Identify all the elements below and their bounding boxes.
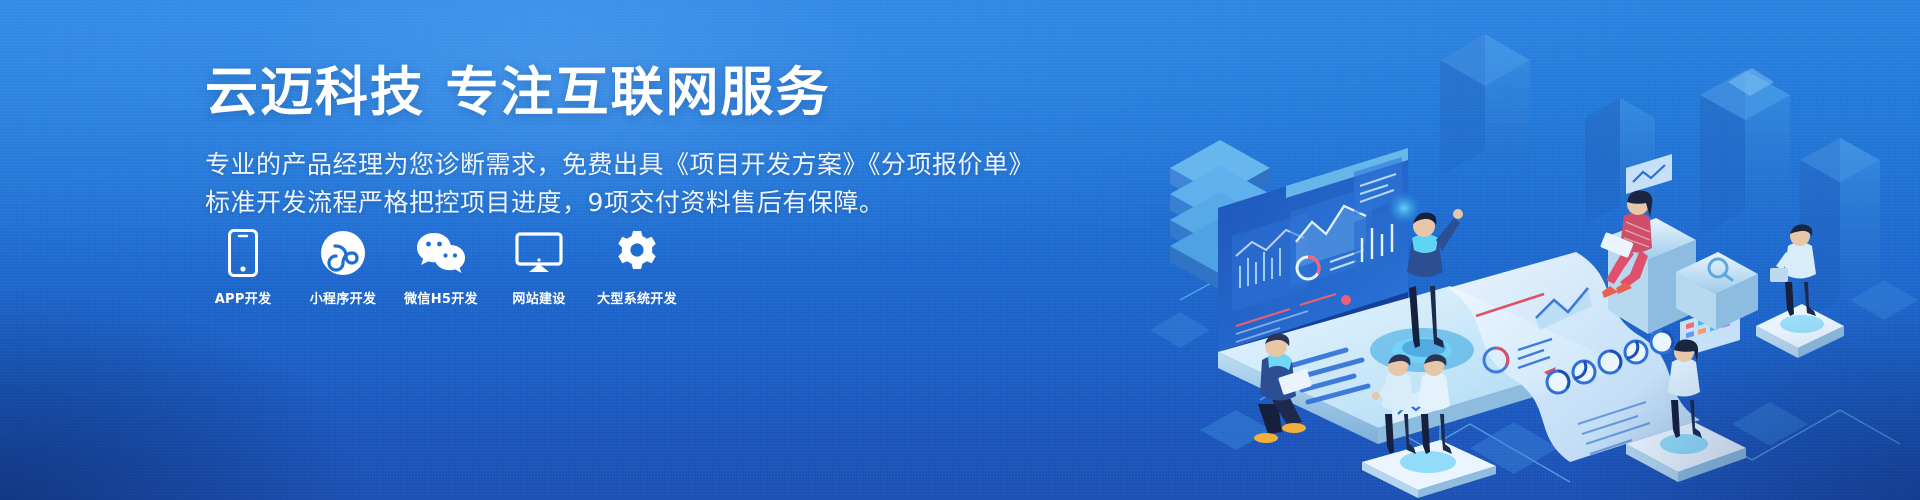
dashboard-screen <box>1218 148 1420 360</box>
gear-icon <box>614 228 660 278</box>
service-label: 大型系统开发 <box>597 292 677 308</box>
monitor-icon <box>515 228 563 278</box>
hero-copy: 云迈科技 专注互联网服务 专业的产品经理为您诊断需求，免费出具《项目开发方案》《… <box>205 62 1105 222</box>
subtitle-line-1: 专业的产品经理为您诊断需求，免费出具《项目开发方案》《分项报价单》 <box>205 146 1105 184</box>
service-label: APP开发 <box>215 292 272 308</box>
hero-banner: 云迈科技 专注互联网服务 专业的产品经理为您诊断需求，免费出具《项目开发方案》《… <box>0 0 1920 500</box>
tablet-platform <box>1218 286 1610 444</box>
metric-chips <box>1547 331 1673 393</box>
service-label: 小程序开发 <box>310 292 377 308</box>
mini-program-icon <box>320 228 366 278</box>
walking-person-with-briefcase <box>1756 224 1844 358</box>
subtitle-line-2: 标准开发流程严格把控项目进度，9项交付资料售后有保障。 <box>205 184 1105 222</box>
mobile-phone-icon <box>228 228 258 278</box>
woman-on-podium <box>1600 154 1696 334</box>
service-item-large-system[interactable]: 大型系统开发 <box>599 228 675 308</box>
service-list: APP开发 小程序开发 微信 <box>205 228 675 308</box>
magnifier-icon <box>1709 259 1732 280</box>
corner-vignette-left <box>0 290 430 500</box>
hero-illustration <box>1140 0 1920 500</box>
wechat-icon <box>415 228 467 278</box>
city-towers <box>1270 34 1880 352</box>
ground-diamonds <box>1150 280 1918 474</box>
search-cube <box>1676 252 1758 330</box>
two-people-on-phone <box>1362 354 1496 498</box>
data-report-ribbon <box>1392 252 1740 462</box>
page-title: 云迈科技 专注互联网服务 <box>205 62 1105 124</box>
service-item-wechat-h5[interactable]: 微信H5开发 <box>403 228 479 308</box>
woman-on-tablet <box>1626 339 1746 482</box>
circuit-lines <box>1180 262 1900 482</box>
service-item-app[interactable]: APP开发 <box>205 228 281 308</box>
standing-person <box>1402 209 1463 357</box>
service-label: 微信H5开发 <box>404 292 478 308</box>
corner-vignette-right <box>1500 300 1920 500</box>
service-item-miniprogram[interactable]: 小程序开发 <box>305 228 381 308</box>
seated-laptop-person <box>1254 333 1312 443</box>
service-item-website[interactable]: 网站建设 <box>501 228 577 308</box>
service-label: 网站建设 <box>512 292 565 308</box>
subtitle-block: 专业的产品经理为您诊断需求，免费出具《项目开发方案》《分项报价单》 标准开发流程… <box>205 146 1105 222</box>
server-stack <box>1170 140 1270 290</box>
